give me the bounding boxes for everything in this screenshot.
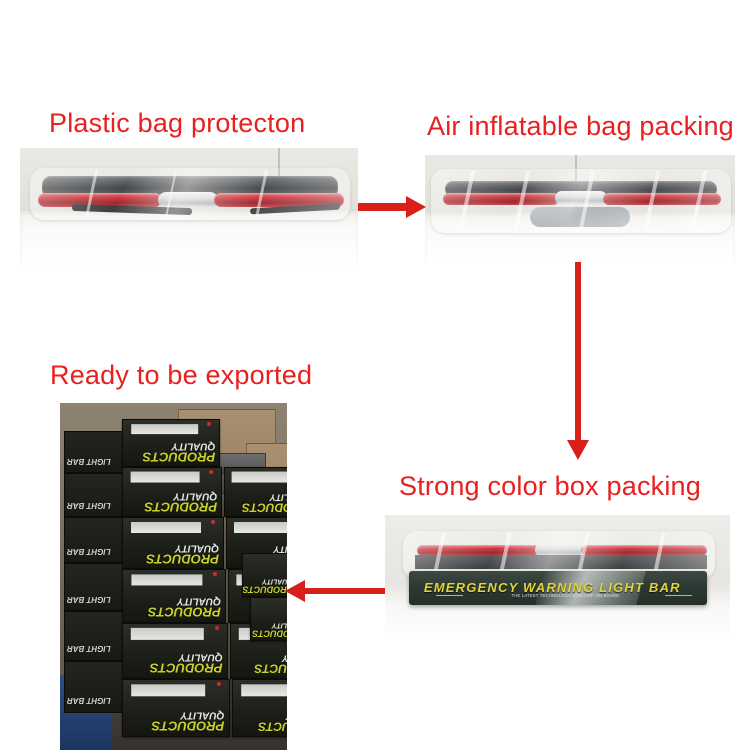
- photo3-side-carton-2: LIGHT BAR: [64, 473, 128, 517]
- carton-line-products: PRODUCTS: [237, 663, 287, 675]
- photo3-carton-print: PRODUCTS QUALITY: [129, 709, 224, 732]
- photo-strong-color-box-packing: EMERGENCY WARNING LIGHT BAR THE LATEST T…: [385, 515, 730, 640]
- carton-line-products: PRODUCTS: [254, 628, 287, 637]
- photo3-carton-seal-dot: [217, 682, 221, 686]
- arrow-down-shaft: [575, 262, 581, 444]
- caption-air-inflatable-bag-packing: Air inflatable bag packing: [427, 113, 734, 140]
- photo3-carton-seal-dot: [207, 422, 211, 426]
- carton-line-quality: QUALITY: [129, 490, 217, 500]
- arrow-left-head: [285, 580, 305, 602]
- arrow-left-shaft: [303, 588, 385, 594]
- arrow-right-shaft: [358, 203, 410, 211]
- photo3-side-carton-text-4: LIGHT BAR: [67, 595, 111, 604]
- photo3-carton-a2: PRODUCTS QUALITY: [122, 467, 222, 517]
- carton-line-products: PRODUCTS: [129, 719, 224, 732]
- photo3-carton-b1: PRODUCTS QUALITY: [224, 467, 287, 517]
- photo3-scene: LIGHT BAR LIGHT BAR LIGHT BAR LIGHT BAR …: [60, 403, 287, 750]
- photo3-carton-print: PRODUCTS QUALITY: [129, 542, 219, 565]
- photo3-carton-a3: PRODUCTS QUALITY: [122, 517, 224, 569]
- photo3-carton-label: [131, 424, 198, 434]
- carton-line-quality: QUALITY: [232, 544, 287, 553]
- photo1-plastic-bag: [30, 168, 350, 220]
- photo3-side-carton-text-3: LIGHT BAR: [67, 547, 111, 556]
- carton-line-products: PRODUCTS: [129, 662, 223, 675]
- photo3-carton-seal-dot: [211, 520, 215, 524]
- photo3-carton-a6: PRODUCTS QUALITY: [122, 679, 230, 737]
- photo3-carton-c1: PRODUCTS QUALITY: [242, 553, 287, 597]
- photo3-carton-print: PRODUCTS QUALITY: [254, 621, 287, 637]
- photo3-carton-seal-dot: [209, 470, 213, 474]
- photo3-carton-print: PRODUCTS QUALITY: [129, 440, 215, 463]
- photo3-side-carton-3: LIGHT BAR: [64, 517, 128, 563]
- photo3-carton-label: [234, 522, 287, 533]
- photo3-carton-c2: PRODUCTS QUALITY: [250, 597, 287, 641]
- caption-plastic-bag-protection: Plastic bag protecton: [49, 110, 305, 137]
- photo-plastic-bag-protection: [20, 148, 358, 265]
- photo3-carton-print: PRODUCTS QUALITY: [129, 595, 221, 618]
- photo3-side-carton-4: LIGHT BAR: [64, 563, 128, 611]
- carton-line-quality: QUALITY: [246, 577, 287, 584]
- carton-line-products: PRODUCTS: [129, 450, 215, 463]
- photo3-side-carton-text-6: LIGHT BAR: [67, 696, 111, 705]
- photo3-carton-a5: PRODUCTS QUALITY: [122, 623, 228, 679]
- color-box-subtitle-rule-right: [665, 595, 692, 596]
- photo3-carton-label: [131, 522, 201, 533]
- carton-line-quality: QUALITY: [254, 621, 287, 628]
- carton-line-products: PRODUCTS: [129, 606, 221, 619]
- photo3-carton-label: [131, 628, 204, 640]
- photo3-side-carton-text-1: LIGHT BAR: [67, 457, 111, 466]
- photo3-side-carton-1: LIGHT BAR: [64, 431, 128, 473]
- photo3-carton-a4: PRODUCTS QUALITY: [122, 569, 226, 623]
- photo3-carton-b5: PRODUCTS QUALITY: [232, 679, 287, 737]
- caption-ready-to-be-exported: Ready to be exported: [50, 362, 312, 389]
- carton-line-products: PRODUCTS: [129, 552, 219, 565]
- photo3-side-carton-text-2: LIGHT BAR: [67, 501, 111, 510]
- photo-air-inflatable-bag-packing: [425, 155, 735, 262]
- photo3-carton-label: [131, 574, 202, 585]
- photo3-carton-print: PRODUCTS QUALITY: [246, 577, 287, 593]
- photo3-carton-print: PRODUCTS QUALITY: [237, 653, 287, 674]
- arrow-down-head: [567, 440, 589, 460]
- carton-line-products: PRODUCTS: [246, 584, 287, 593]
- arrow-right-head: [406, 196, 426, 218]
- photo3-side-carton-5: LIGHT BAR: [64, 611, 128, 661]
- packing-process-infographic: Plastic bag protecton Air inflatable bag…: [0, 0, 750, 750]
- photo3-side-carton-text-5: LIGHT BAR: [67, 644, 111, 653]
- color-box-subtitle: THE LATEST TECHNOLOGY COB CHIP ON BOARD: [466, 593, 666, 598]
- photo3-carton-print: PRODUCTS QUALITY: [230, 492, 287, 513]
- photo3-carton-a1: PRODUCTS QUALITY: [122, 419, 220, 467]
- photo3-carton-label: [241, 684, 287, 696]
- photo3-carton-label: [131, 472, 200, 483]
- carton-line-products: PRODUCTS: [230, 501, 287, 513]
- photo3-side-carton-6: LIGHT BAR: [64, 661, 128, 713]
- photo3-carton-print: PRODUCTS QUALITY: [129, 490, 217, 513]
- color-box-subtitle-rule-left: [436, 595, 463, 596]
- caption-strong-color-box-packing: Strong color box packing: [399, 473, 701, 500]
- photo3-carton-print: PRODUCTS QUALITY: [239, 711, 287, 732]
- photo3-carton-seal-dot: [213, 572, 217, 576]
- carton-line-products: PRODUCTS: [129, 500, 217, 513]
- photo3-carton-print: PRODUCTS QUALITY: [129, 651, 223, 674]
- photo3-carton-label: [131, 684, 205, 696]
- photo4-color-box: EMERGENCY WARNING LIGHT BAR THE LATEST T…: [409, 571, 707, 605]
- carton-line-quality: QUALITY: [129, 542, 219, 552]
- photo3-carton-label: [232, 472, 287, 483]
- photo3-carton-seal-dot: [215, 626, 219, 630]
- carton-line-products: PRODUCTS: [239, 720, 287, 732]
- photo-ready-to-be-exported: LIGHT BAR LIGHT BAR LIGHT BAR LIGHT BAR …: [60, 403, 287, 750]
